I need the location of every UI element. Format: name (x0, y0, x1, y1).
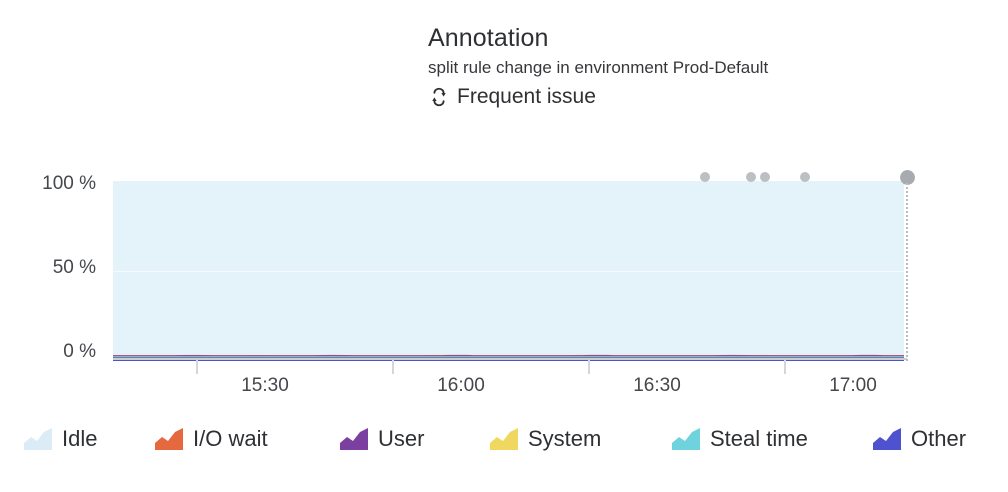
legend-item-other[interactable]: Other (873, 426, 966, 452)
x-axis-tick (784, 360, 786, 374)
x-axis-line (113, 358, 907, 360)
y-axis-tick-label: 50 % (53, 258, 96, 277)
x-axis-tick-label: 16:00 (437, 376, 485, 396)
legend-label: User (378, 426, 424, 452)
series-area-idle (113, 351, 904, 355)
annotation-description: split rule change in environment Prod-De… (428, 56, 988, 80)
event-marker-dot[interactable] (760, 172, 770, 182)
x-axis-tick (588, 360, 590, 374)
legend-label: Steal time (710, 426, 808, 452)
x-axis-tick (196, 360, 198, 374)
annotation-marker[interactable] (900, 170, 915, 410)
y-axis-tick-label: 0 % (63, 342, 96, 361)
x-axis-tick (392, 360, 394, 374)
area-chart-icon (490, 428, 518, 450)
plot-area[interactable] (113, 181, 904, 361)
area-chart-icon (873, 428, 901, 450)
legend-item-system[interactable]: System (490, 426, 601, 452)
event-marker-dot[interactable] (700, 172, 710, 182)
legend-label: Other (911, 426, 966, 452)
area-chart-icon (24, 428, 52, 450)
y-axis: 100 % 50 % 0 % (0, 150, 96, 390)
chart-legend: Idle I/O wait User System Steal time Oth… (0, 422, 1008, 468)
legend-label: I/O wait (193, 426, 268, 452)
cpu-usage-chart[interactable]: 100 % 50 % 0 % (0, 150, 1008, 390)
series-area-io-wait (113, 355, 904, 356)
legend-item-user[interactable]: User (340, 426, 424, 452)
gridline-50 (113, 271, 904, 272)
x-axis-tick-label: 16:30 (633, 376, 681, 396)
x-axis-tick-label: 17:00 (829, 376, 877, 396)
status-label: Frequent issue (457, 83, 596, 111)
legend-label: Idle (62, 426, 97, 452)
legend-label: System (528, 426, 601, 452)
area-chart-icon (340, 428, 368, 450)
annotation-header: Annotation split rule change in environm… (428, 22, 988, 111)
event-marker-dot[interactable] (800, 172, 810, 182)
page-title: Annotation (428, 22, 988, 54)
annotation-marker-line (906, 183, 908, 361)
y-axis-tick-label: 100 % (42, 174, 96, 193)
x-axis-tick-label: 15:30 (241, 376, 289, 396)
legend-item-idle[interactable]: Idle (24, 426, 97, 452)
legend-item-io-wait[interactable]: I/O wait (155, 426, 268, 452)
legend-item-steal-time[interactable]: Steal time (672, 426, 808, 452)
area-chart-icon (672, 428, 700, 450)
repeat-icon (428, 86, 450, 108)
event-marker-dot[interactable] (746, 172, 756, 182)
area-chart-icon (155, 428, 183, 450)
status-badge: Frequent issue (428, 83, 988, 111)
